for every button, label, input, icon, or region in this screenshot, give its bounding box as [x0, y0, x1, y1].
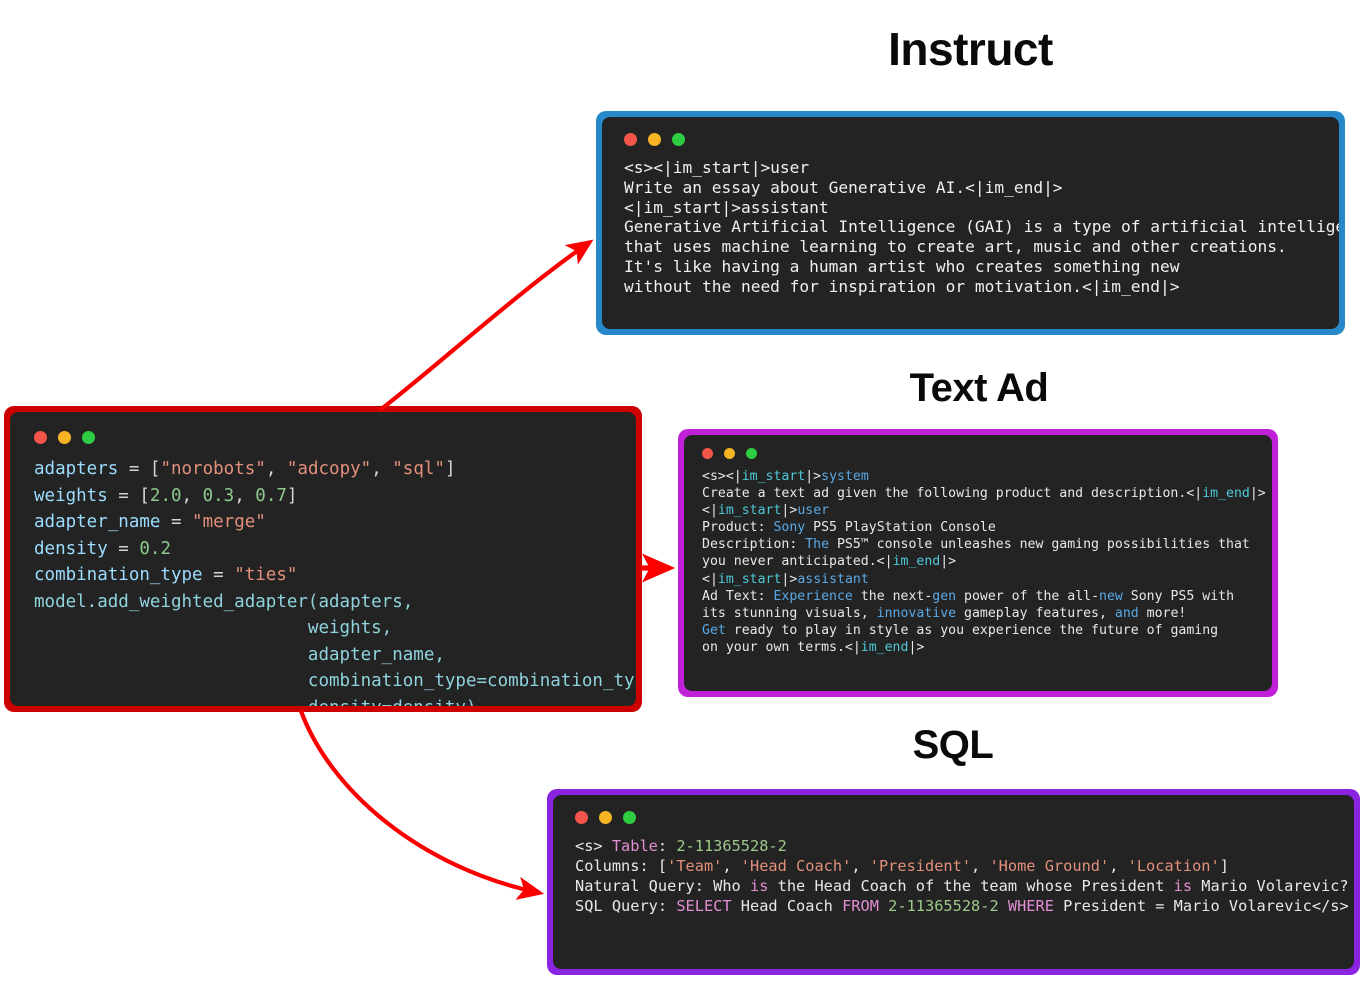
- window-controls: [624, 130, 1325, 148]
- sql-window-body: <s> Table: 2-11365528-2 Columns: ['Team'…: [553, 795, 1354, 969]
- arrow-merge-to-sql: [301, 711, 540, 893]
- merge-code-line-1: weights = [2.0, 0.3, 0.7]: [34, 486, 297, 506]
- window-controls: [702, 446, 1260, 460]
- merge-code-window: adapters = ["norobots", "adcopy", "sql"]…: [4, 406, 642, 712]
- arrow-merge-to-instruct: [380, 242, 590, 410]
- text-ad-sample-text: <s><|im_start|>system Create a text ad g…: [702, 468, 1260, 656]
- minimize-dot-icon[interactable]: [648, 133, 661, 146]
- merge-code-line-5: model.add_weighted_adapter(adapters,: [34, 592, 413, 612]
- minimize-dot-icon[interactable]: [58, 431, 71, 444]
- instruct-window-body: <s><|im_start|>user Write an essay about…: [602, 117, 1339, 329]
- instruct-line-6: without the need for inspiration or moti…: [624, 277, 1180, 296]
- instruct-line-3: Generative Artificial Intelligence (GAI)…: [624, 217, 1339, 236]
- merge-code-window-body: adapters = ["norobots", "adcopy", "sql"]…: [10, 412, 636, 706]
- sql-line-0: <s> Table: 2-11365528-2: [575, 837, 787, 855]
- close-dot-icon[interactable]: [624, 133, 637, 146]
- text-ad-line-0: <s><|im_start|>system: [702, 469, 869, 484]
- maximize-dot-icon[interactable]: [672, 133, 685, 146]
- instruct-line-0: <s><|im_start|>user: [624, 158, 809, 177]
- merge-code-line-6: weights,: [34, 618, 392, 638]
- instruct-line-1: Write an essay about Generative AI.<|im_…: [624, 178, 1063, 197]
- minimize-dot-icon[interactable]: [724, 448, 735, 459]
- text-ad-line-5: you never anticipated.<|im_end|>: [702, 554, 956, 569]
- merge-code-line-8: combination_type=combination_type: [34, 671, 636, 691]
- sql-window: <s> Table: 2-11365528-2 Columns: ['Team'…: [547, 789, 1360, 975]
- text-ad-line-4: Description: The PS5™ console unleashes …: [702, 537, 1250, 552]
- merge-code-line-9: density=density): [34, 698, 477, 707]
- text-ad-window: <s><|im_start|>system Create a text ad g…: [678, 429, 1278, 697]
- instruct-line-4: that uses machine learning to create art…: [624, 237, 1287, 256]
- text-ad-line-9: Get ready to play in style as you experi…: [702, 623, 1218, 638]
- text-ad-line-1: Create a text ad given the following pro…: [702, 486, 1266, 501]
- sql-sample-text: <s> Table: 2-11365528-2 Columns: ['Team'…: [575, 836, 1342, 916]
- minimize-dot-icon[interactable]: [599, 811, 612, 824]
- maximize-dot-icon[interactable]: [82, 431, 95, 444]
- merge-code-text: adapters = ["norobots", "adcopy", "sql"]…: [34, 456, 620, 706]
- sql-line-1: Columns: ['Team', 'Head Coach', 'Preside…: [575, 857, 1229, 875]
- maximize-dot-icon[interactable]: [623, 811, 636, 824]
- instruct-sample-text: <s><|im_start|>user Write an essay about…: [624, 158, 1325, 297]
- text-ad-line-2: <|im_start|>user: [702, 503, 829, 518]
- merge-code-line-0: adapters = ["norobots", "adcopy", "sql"]: [34, 459, 456, 479]
- window-controls: [575, 808, 1342, 826]
- merge-code-line-3: density = 0.2: [34, 539, 171, 559]
- text-ad-line-10: on your own terms.<|im_end|>: [702, 640, 924, 655]
- close-dot-icon[interactable]: [575, 811, 588, 824]
- instruct-line-2: <|im_start|>assistant: [624, 198, 829, 217]
- maximize-dot-icon[interactable]: [746, 448, 757, 459]
- text-ad-window-body: <s><|im_start|>system Create a text ad g…: [684, 435, 1272, 691]
- instruct-line-5: It's like having a human artist who crea…: [624, 257, 1180, 276]
- merge-code-line-2: adapter_name = "merge": [34, 512, 266, 532]
- page-title-sql: SQL: [546, 723, 1360, 768]
- page-title-text-ad: Text Ad: [674, 366, 1284, 411]
- text-ad-line-8: its stunning visuals, innovative gamepla…: [702, 606, 1186, 621]
- text-ad-line-3: Product: Sony PS5 PlayStation Console: [702, 520, 996, 535]
- merge-code-line-7: adapter_name,: [34, 645, 445, 665]
- text-ad-line-6: <|im_start|>assistant: [702, 572, 869, 587]
- merge-code-line-4: combination_type = "ties": [34, 565, 297, 585]
- sql-line-3: SQL Query: SELECT Head Coach FROM 2-1136…: [575, 897, 1349, 915]
- text-ad-line-7: Ad Text: Experience the next-gen power o…: [702, 589, 1234, 604]
- close-dot-icon[interactable]: [702, 448, 713, 459]
- sql-line-2: Natural Query: Who is the Head Coach of …: [575, 877, 1349, 895]
- window-controls: [34, 428, 620, 446]
- close-dot-icon[interactable]: [34, 431, 47, 444]
- instruct-window: <s><|im_start|>user Write an essay about…: [596, 111, 1345, 335]
- page-title-instruct: Instruct: [574, 22, 1367, 76]
